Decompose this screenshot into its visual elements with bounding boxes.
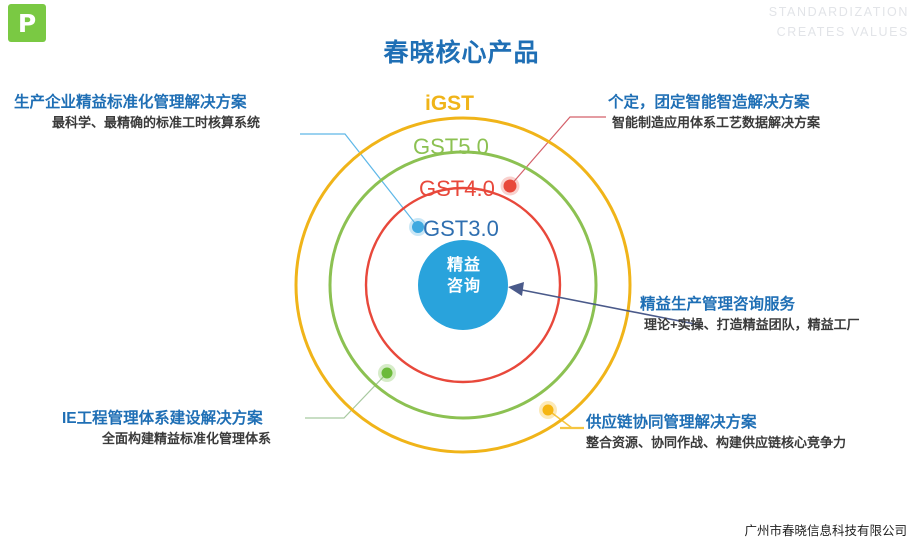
callout-top-left-title: 生产企业精益标准化管理解决方案 [14,92,260,113]
callout-middle-right: 精益生产管理咨询服务 理论+实操、打造精益团队，精益工厂 [640,294,860,335]
connector-bottom-left [305,373,387,418]
core-label-line-1: 精益 [433,255,495,276]
node-red [501,177,520,196]
callout-top-right-title: 个定，团定智能智造解决方案 [608,92,820,113]
ring-label-gst40: GST4.0 [419,176,495,202]
callout-bottom-right-subtitle: 整合资源、协同作战、构建供应链核心竞争力 [586,433,846,453]
callout-top-left: 生产企业精益标准化管理解决方案 最科学、最精确的标准工时核算系统 [14,92,260,133]
callout-top-left-subtitle: 最科学、最精确的标准工时核算系统 [14,113,260,133]
footer-company-name: 广州市春晓信息科技有限公司 [744,520,907,539]
callout-bottom-left-title: IE工程管理体系建设解决方案 [62,408,271,429]
node-yellow [539,401,557,419]
connector-top-left [300,134,418,227]
connector-top-right [510,117,606,186]
core-label-line-2: 咨询 [433,276,495,297]
ring-label-igst: iGST [425,92,474,116]
callout-middle-right-title: 精益生产管理咨询服务 [640,294,860,315]
ring-label-gst30: GST3.0 [423,216,499,242]
callout-bottom-left-subtitle: 全面构建精益标准化管理体系 [62,429,271,449]
callout-bottom-right: 供应链协同管理解决方案 整合资源、协同作战、构建供应链核心竞争力 [586,412,846,453]
ring-label-gst50: GST5.0 [413,134,489,160]
callout-middle-right-subtitle: 理论+实操、打造精益团队，精益工厂 [640,315,860,335]
callout-top-right-subtitle: 智能制造应用体系工艺数据解决方案 [608,113,820,133]
node-green [378,364,396,382]
callout-bottom-right-title: 供应链协同管理解决方案 [586,412,846,433]
callout-top-right: 个定，团定智能智造解决方案 智能制造应用体系工艺数据解决方案 [608,92,820,133]
callout-bottom-left: IE工程管理体系建设解决方案 全面构建精益标准化管理体系 [62,408,271,449]
slide-canvas: P STANDARDIZATION CREATES VALUES 春晓核心产品 [0,0,923,549]
core-label: 精益 咨询 [433,255,495,297]
